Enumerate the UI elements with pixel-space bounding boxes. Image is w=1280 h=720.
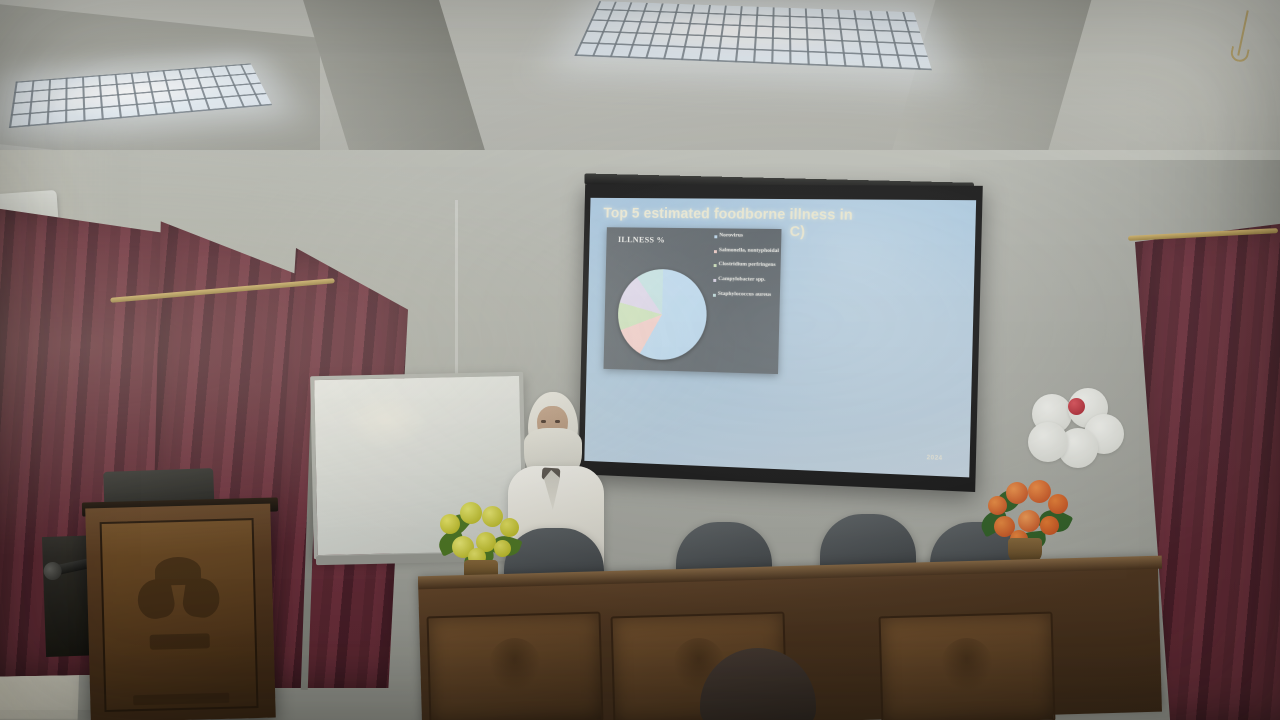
table-front-panel <box>426 612 603 720</box>
flower-arrangement-left <box>434 492 526 578</box>
flower-arrangement-right <box>978 470 1074 562</box>
projection-screen: Top 5 estimated foodborne illness in C) … <box>578 184 982 492</box>
petal <box>1028 422 1068 462</box>
chart-caption: ILLNESS % <box>618 234 665 244</box>
chart-legend: Norovirus Salmonella, nontyphoidal Clost… <box>713 232 780 306</box>
bloom <box>460 502 482 524</box>
flower-center <box>1068 398 1085 415</box>
eye-right <box>555 420 560 423</box>
podium-engraved-text <box>133 693 229 706</box>
legend-item: Campylobacter spp. <box>713 276 778 284</box>
bloom <box>1048 494 1068 514</box>
bloom <box>988 496 1007 515</box>
bloom <box>440 514 460 534</box>
legend-label: Salmonella, nontyphoidal <box>719 247 779 255</box>
podium-emblem-icon <box>137 556 221 652</box>
podium-front-panel <box>100 518 259 712</box>
lecture-hall-photo: Top 5 estimated foodborne illness in C) … <box>0 0 1280 720</box>
legend-bullet-icon <box>714 264 717 267</box>
presentation-slide: Top 5 estimated foodborne illness in C) … <box>584 198 976 478</box>
whiteboard-glare <box>339 389 430 451</box>
podium <box>85 504 276 720</box>
wall-flower-decor-icon <box>1028 388 1124 476</box>
legend-bullet-icon <box>714 250 717 253</box>
bloom <box>1028 480 1051 503</box>
pie-chart <box>617 268 708 361</box>
legend-bullet-icon <box>713 293 716 296</box>
eye-left <box>541 420 546 423</box>
bloom <box>1040 516 1059 535</box>
table-panel-emblem-icon <box>488 637 541 692</box>
bloom <box>1018 510 1040 532</box>
pie-chart-panel: ILLNESS % Norovirus Salmonella, nontypho… <box>604 227 782 374</box>
legend-label: Staphylococcus aureus <box>718 291 771 299</box>
bloom <box>494 540 511 557</box>
legend-item: Salmonella, nontyphoidal <box>714 247 779 255</box>
legend-bullet-icon <box>713 279 716 282</box>
slide-title-line1: Top 5 estimated foodborne illness in <box>603 206 853 224</box>
table-front-panel <box>878 612 1055 720</box>
legend-label: Campylobacter spp. <box>718 276 765 284</box>
emblem-wing-left <box>134 577 177 623</box>
legend-item: Staphylococcus aureus <box>713 290 778 298</box>
bloom <box>1006 482 1028 504</box>
legend-item: Norovirus <box>714 232 779 240</box>
emblem-wing-right <box>181 576 223 620</box>
bloom <box>500 518 519 537</box>
legend-label: Clostridium perfringens <box>718 261 775 269</box>
table-panel-emblem-icon <box>940 637 993 692</box>
slide-year: 2024 <box>927 455 943 462</box>
legend-label: Norovirus <box>719 232 743 239</box>
legend-item: Clostridium perfringens <box>714 261 779 269</box>
legend-bullet-icon <box>714 235 717 238</box>
emblem-base <box>150 633 209 650</box>
